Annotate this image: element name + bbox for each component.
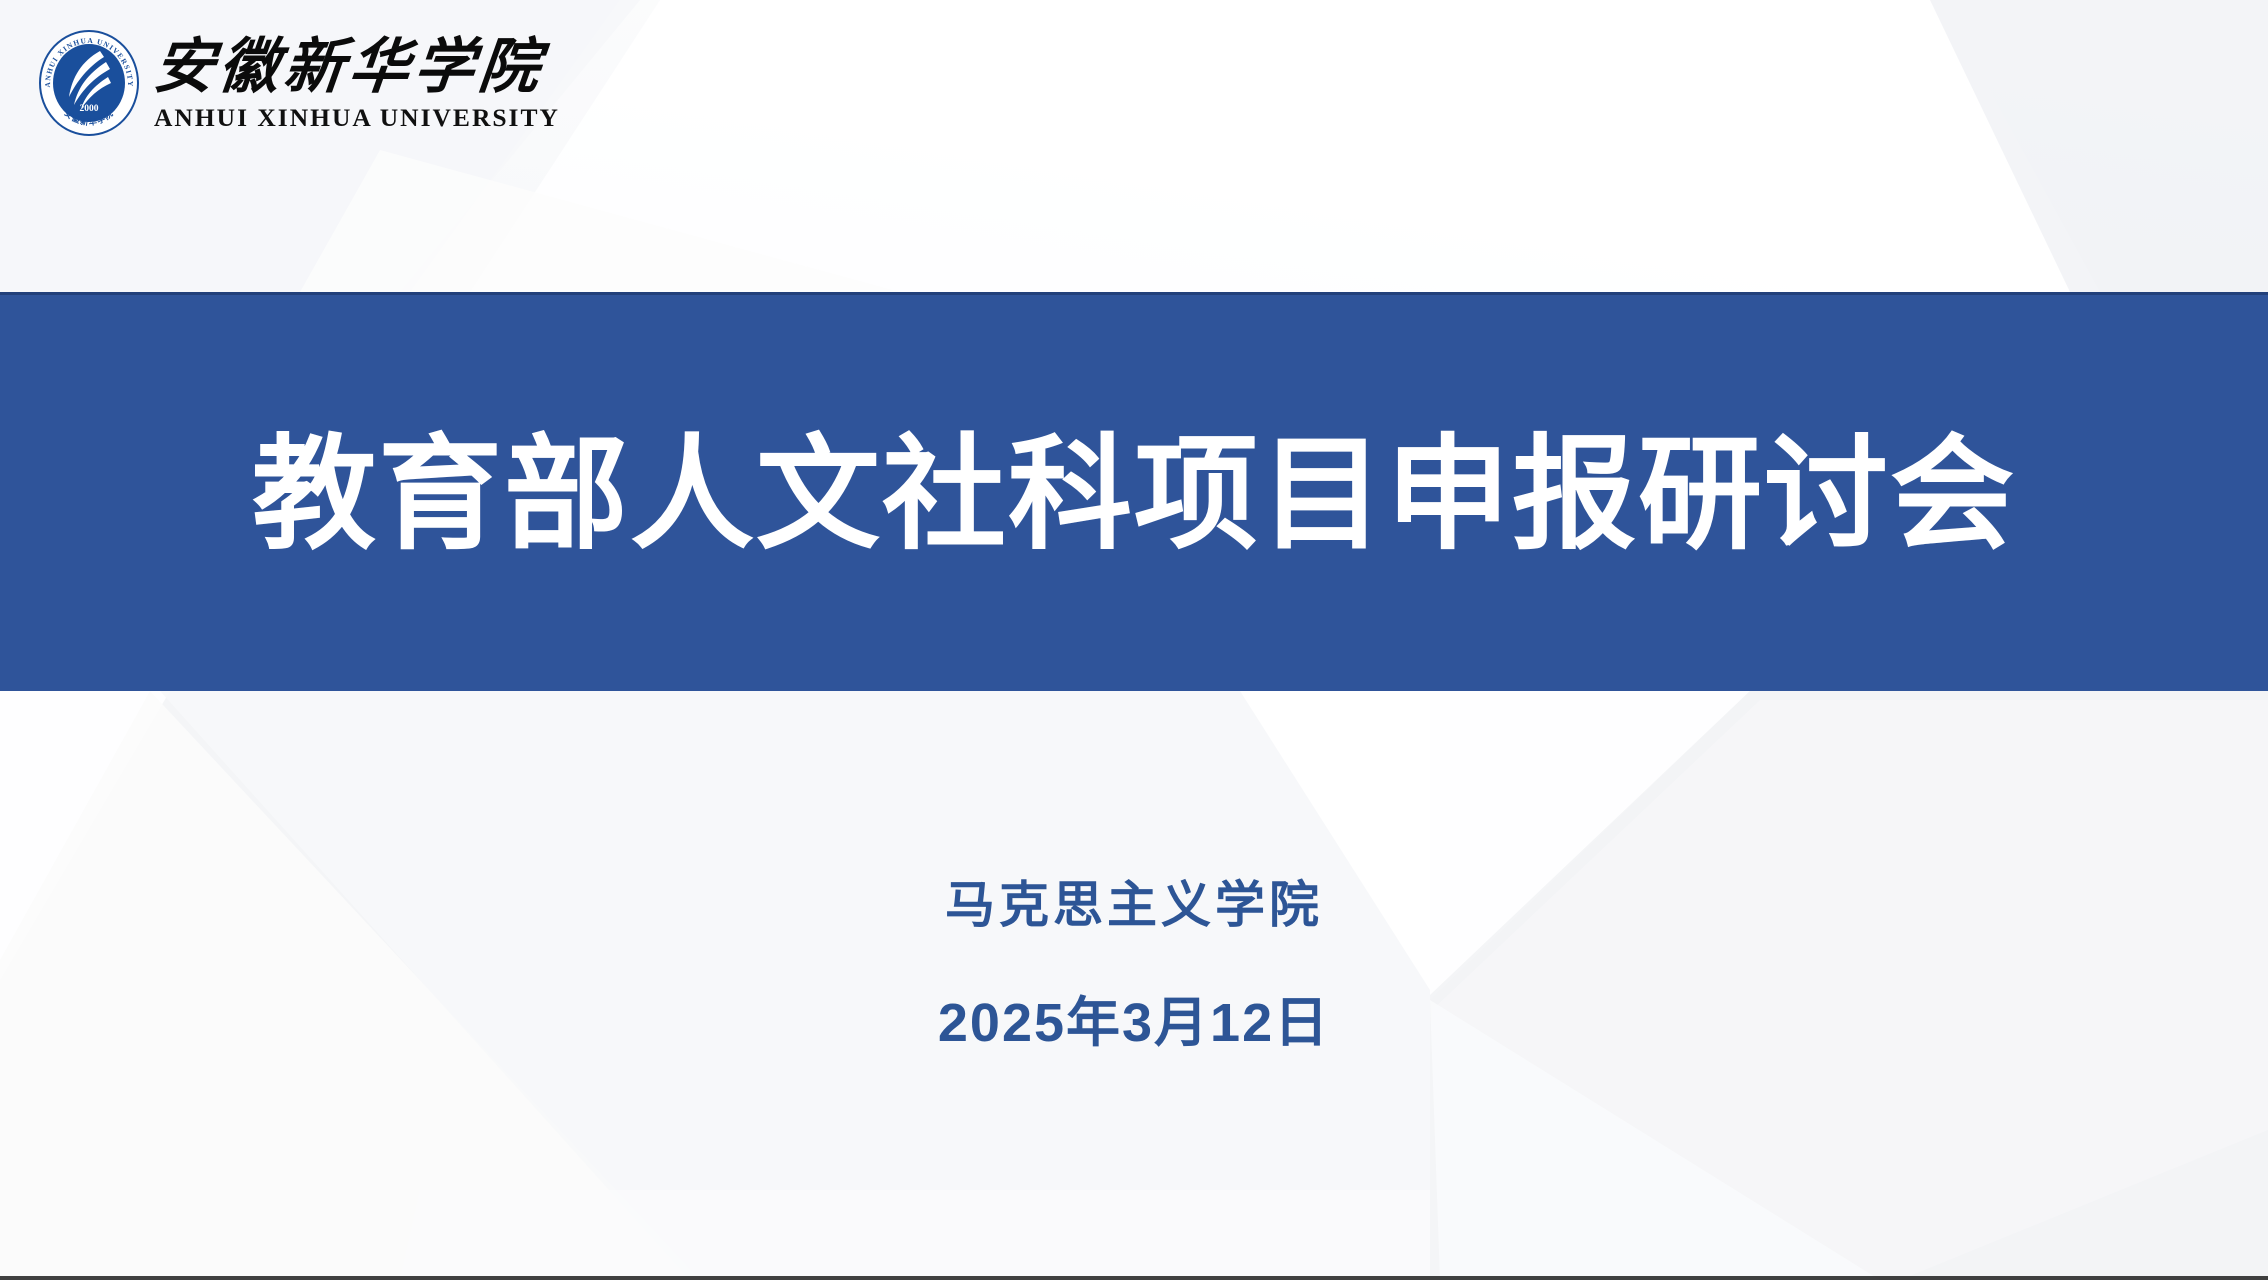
slide-meta-block: 马克思主义学院 2025年3月12日: [0, 880, 2268, 1050]
logo-english-name: ANHUI XINHUA UNIVERSITY: [154, 103, 560, 133]
presentation-title-slide: 2000 ANHUI XINHUA UNIVERSITY 安徽新华学院 安徽新华…: [0, 0, 2268, 1280]
svg-text:2000: 2000: [80, 104, 99, 114]
title-banner: 教育部人文社科项目申报研讨会: [0, 292, 2268, 691]
university-seal-icon: 2000 ANHUI XINHUA UNIVERSITY 安徽新华学院: [38, 29, 140, 137]
page-title: 教育部人文社科项目申报研讨会: [252, 427, 2016, 557]
event-date-label: 2025年3月12日: [0, 996, 2268, 1050]
bottom-divider: [0, 1276, 2268, 1280]
organizer-label: 马克思主义学院: [0, 880, 2268, 930]
logo-wordmark: 安徽新华学院 ANHUI XINHUA UNIVERSITY: [154, 33, 560, 132]
university-logo-lockup: 2000 ANHUI XINHUA UNIVERSITY 安徽新华学院 安徽新华…: [38, 18, 698, 148]
logo-chinese-name: 安徽新华学院: [151, 37, 563, 98]
